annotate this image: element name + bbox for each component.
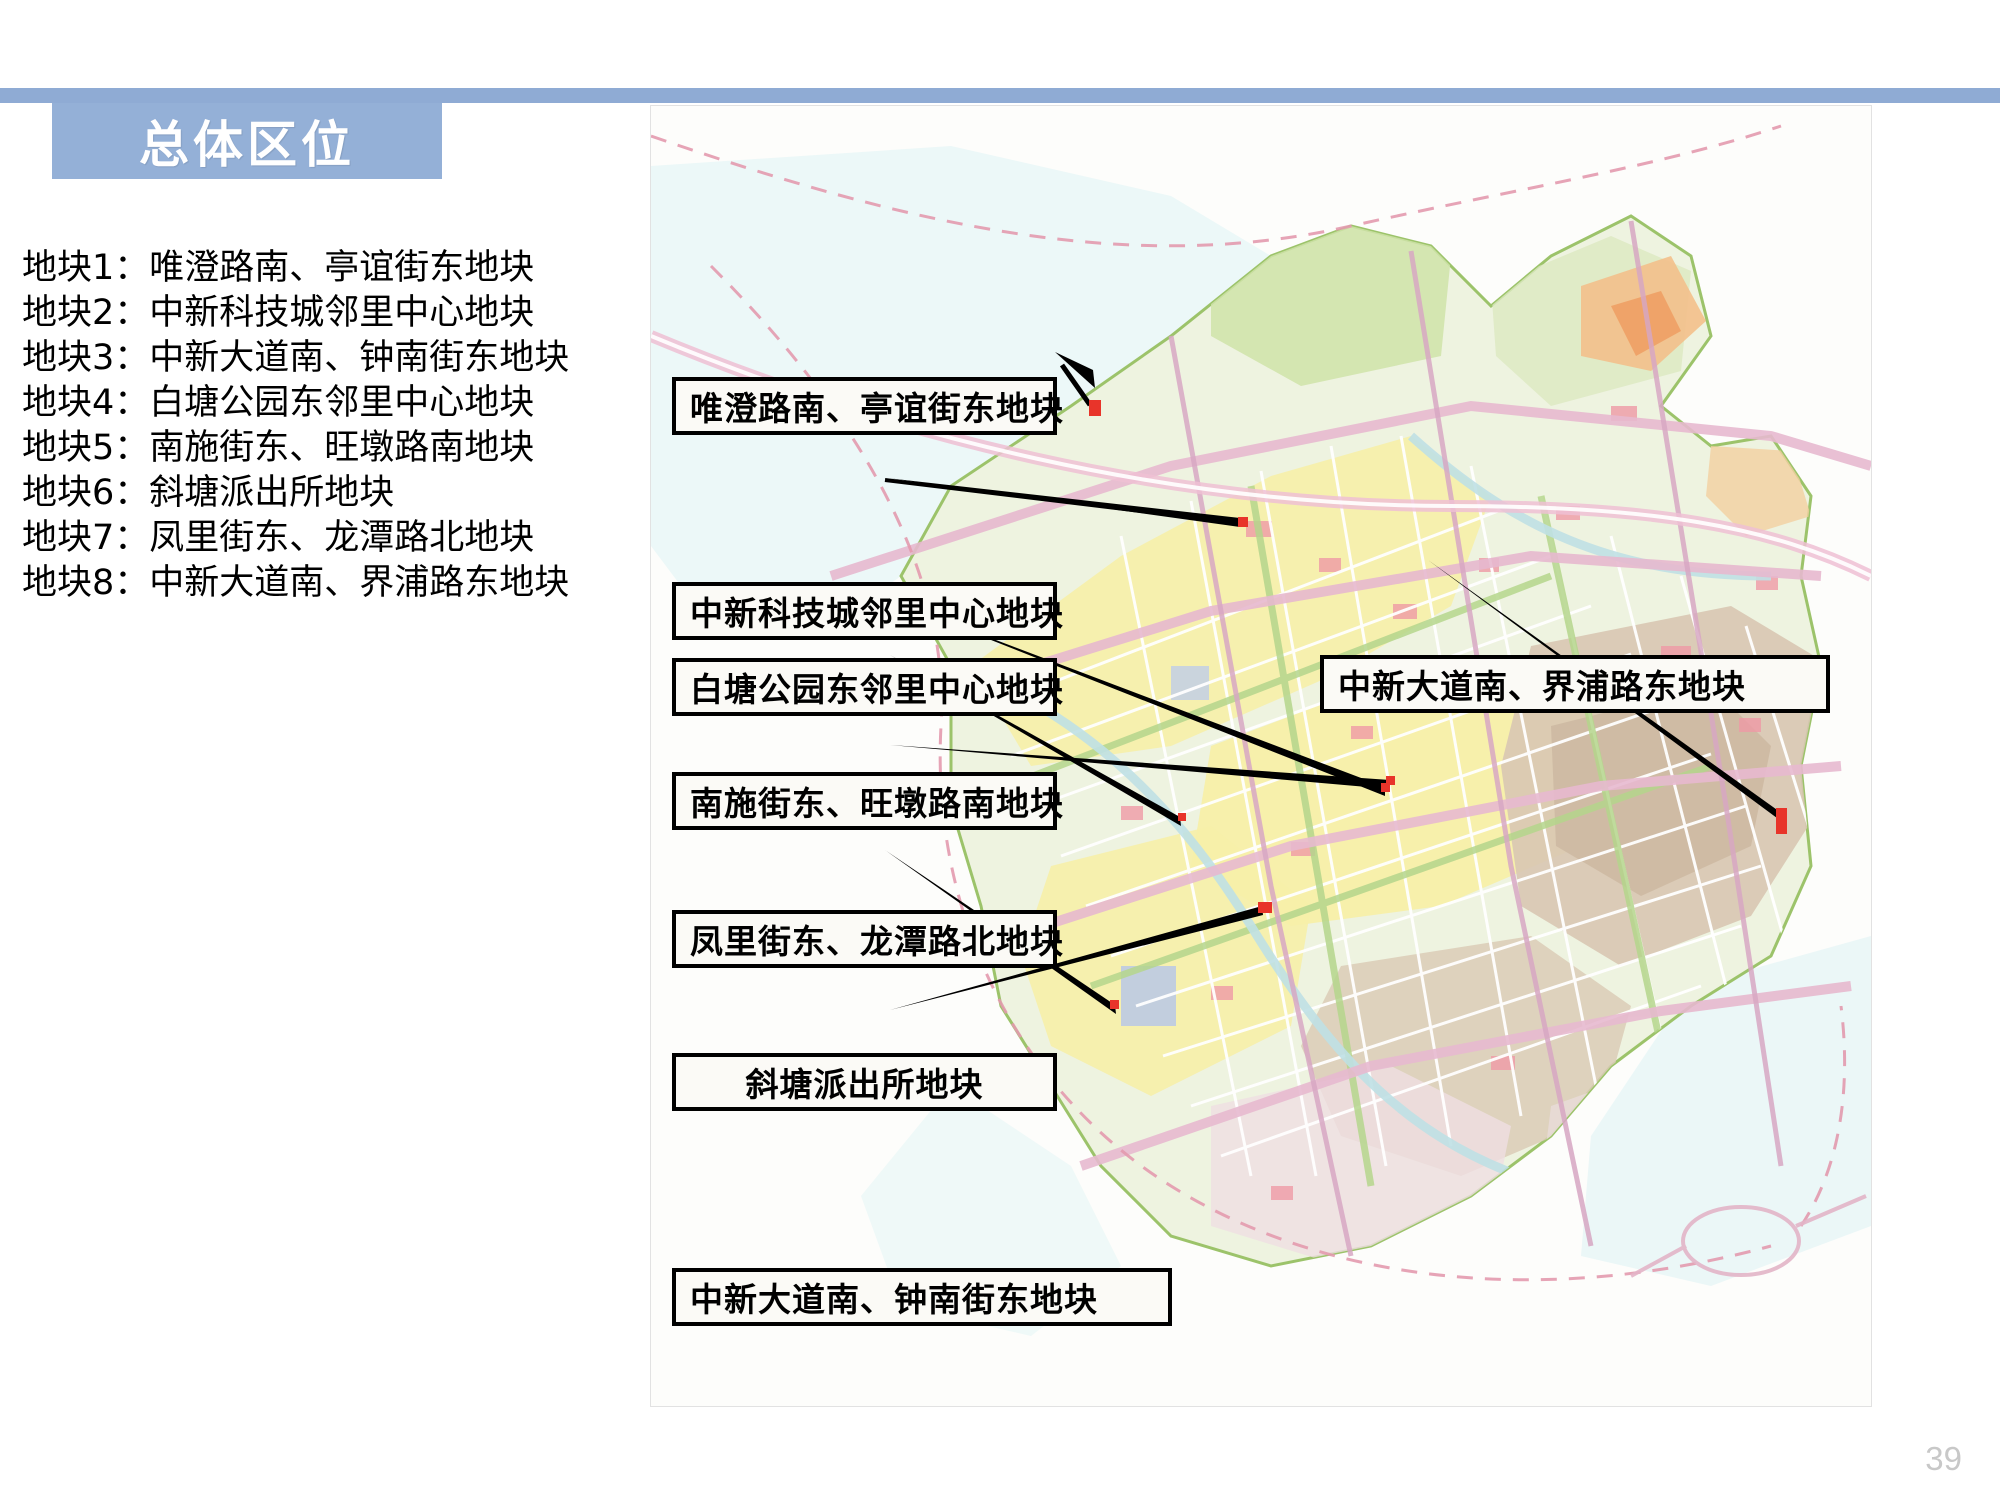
callout-label: 中新大道南、钟南街东地块 bbox=[690, 1273, 1098, 1321]
callout-label: 南施街东、旺墩路南地块 bbox=[690, 777, 1064, 825]
list-item: 地块1：唯澄路南、亭谊街东地块 bbox=[22, 246, 672, 291]
callout-label: 凤里街东、龙潭路北地块 bbox=[690, 915, 1064, 963]
page-title-banner: 总体区位 bbox=[52, 103, 442, 179]
list-item: 地块5：南施街东、旺墩路南地块 bbox=[22, 426, 672, 471]
site-marker-7[interactable] bbox=[1258, 902, 1272, 913]
callout-3[interactable]: 白塘公园东邻里中心地块 bbox=[672, 658, 1057, 716]
top-accent-rule bbox=[0, 88, 2000, 103]
callout-label: 中新科技城邻里中心地块 bbox=[690, 587, 1064, 635]
callout-label: 斜塘派出所地块 bbox=[746, 1058, 984, 1106]
list-item: 地块6：斜塘派出所地块 bbox=[22, 471, 672, 516]
callout-4[interactable]: 南施街东、旺墩路南地块 bbox=[672, 772, 1057, 830]
callout-8[interactable]: 中新大道南、界浦路东地块 bbox=[1320, 655, 1830, 713]
site-marker-4[interactable] bbox=[1178, 813, 1186, 821]
list-item: 地块2：中新科技城邻里中心地块 bbox=[22, 291, 672, 336]
callout-1[interactable]: 唯澄路南、亭谊街东地块 bbox=[672, 377, 1057, 435]
callout-7[interactable]: 中新大道南、钟南街东地块 bbox=[672, 1268, 1172, 1326]
list-item: 地块3：中新大道南、钟南街东地块 bbox=[22, 336, 672, 381]
site-marker-6[interactable] bbox=[1110, 1000, 1119, 1009]
site-marker-1[interactable] bbox=[1089, 400, 1101, 416]
page-number: 39 bbox=[1925, 1440, 1962, 1478]
site-marker-8[interactable] bbox=[1776, 808, 1787, 834]
callout-2[interactable]: 中新科技城邻里中心地块 bbox=[672, 582, 1057, 640]
list-item: 地块7：凤里街东、龙潭路北地块 bbox=[22, 516, 672, 561]
list-item: 地块8：中新大道南、界浦路东地块 bbox=[22, 561, 672, 606]
plot-list: 地块1：唯澄路南、亭谊街东地块 地块2：中新科技城邻里中心地块 地块3：中新大道… bbox=[22, 246, 672, 606]
map-landuse-drawing bbox=[651, 106, 1871, 1406]
map-canvas bbox=[651, 106, 1871, 1406]
callout-5[interactable]: 凤里街东、龙潭路北地块 bbox=[672, 910, 1057, 968]
list-item: 地块4：白塘公园东邻里中心地块 bbox=[22, 381, 672, 426]
callout-label: 白塘公园东邻里中心地块 bbox=[690, 663, 1064, 711]
site-marker-2[interactable] bbox=[1238, 517, 1248, 527]
site-marker-5[interactable] bbox=[1386, 776, 1395, 785]
location-map[interactable] bbox=[650, 105, 1872, 1407]
callout-6[interactable]: 斜塘派出所地块 bbox=[672, 1053, 1057, 1111]
page-title: 总体区位 bbox=[139, 105, 355, 177]
callout-label: 中新大道南、界浦路东地块 bbox=[1338, 660, 1746, 708]
callout-label: 唯澄路南、亭谊街东地块 bbox=[690, 382, 1064, 430]
